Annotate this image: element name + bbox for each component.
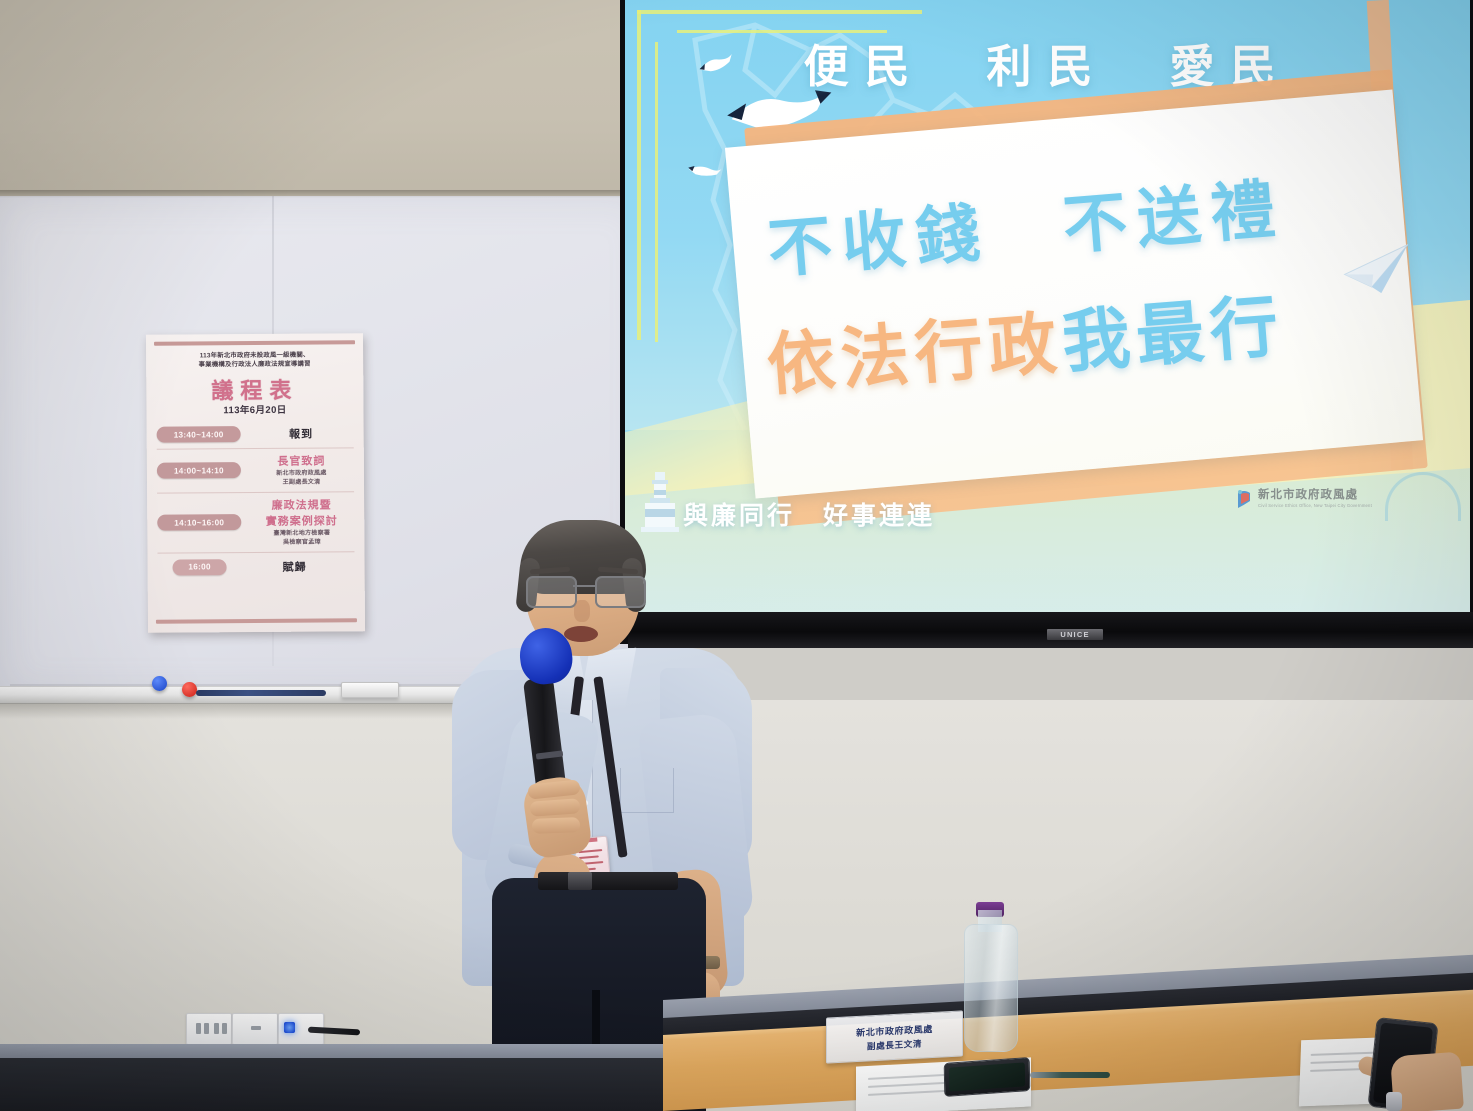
blue-magnet-icon[interactable] bbox=[152, 676, 167, 691]
agenda-sub2: 王副處長文清 bbox=[249, 479, 354, 488]
pen[interactable] bbox=[1030, 1072, 1110, 1078]
agenda-body: 報到 bbox=[241, 425, 354, 442]
agenda-event: 賦歸 bbox=[235, 558, 355, 575]
screenshot-root: 113年新北市政府未設政風一級機關、 事業機構及行政法人廉政法規宣導講習 議程表… bbox=[0, 0, 1473, 1111]
slide-line-2-blue: 我最行 bbox=[1059, 288, 1286, 381]
nose bbox=[574, 600, 590, 622]
agenda-time: 16:00 bbox=[173, 559, 227, 575]
agenda-event: 廉政法規暨 bbox=[249, 496, 354, 513]
agenda-poster[interactable]: 113年新北市政府未設政風一級機關、 事業機構及行政法人廉政法規宣導講習 議程表… bbox=[146, 333, 365, 633]
agenda-row: 14:00~14:10 長官致詞 新北市政府政風處 王副處長文清 bbox=[157, 448, 354, 493]
power-outlet[interactable] bbox=[186, 1013, 232, 1045]
agenda-time: 13:40~14:00 bbox=[157, 426, 241, 443]
gov-logo-cn: 新北市政府政風處 bbox=[1258, 490, 1372, 502]
whiteboard-eraser[interactable] bbox=[341, 682, 399, 698]
gov-logo-en: Civil Service Ethics Office, New Taipei … bbox=[1258, 504, 1372, 508]
glasses-bridge bbox=[573, 585, 595, 587]
poster-heading: 113年新北市政府未設政風一級機關、 事業機構及行政法人廉政法規宣導講習 bbox=[153, 350, 356, 369]
belt-buckle bbox=[568, 872, 592, 890]
agenda-time: 14:00~14:10 bbox=[157, 463, 241, 480]
smartphone-on-table[interactable] bbox=[944, 1057, 1031, 1097]
water-bottle[interactable] bbox=[964, 924, 1018, 1052]
lens-left bbox=[526, 576, 577, 608]
agenda-event: 報到 bbox=[249, 425, 354, 442]
agenda-body: 廉政法規暨 實務案例探討 臺灣新北地方檢察署 吳檢察官孟璋 bbox=[241, 496, 354, 548]
desk-nameplate: 新北市政府政風處 副處長王文清 bbox=[826, 1010, 963, 1063]
agenda-event: 長官致詞 bbox=[249, 452, 354, 469]
whiteboard-marker[interactable] bbox=[196, 690, 326, 696]
lens-right bbox=[595, 576, 646, 608]
agenda-event-line2: 實務案例探討 bbox=[249, 512, 354, 529]
finger bbox=[532, 817, 580, 834]
mouth bbox=[564, 626, 598, 642]
poster-heading-line2: 事業機構及行政法人廉政法規宣導講習 bbox=[153, 359, 356, 369]
agenda-time: 14:10~16:00 bbox=[157, 514, 241, 531]
poster-date: 113年6月20日 bbox=[146, 401, 363, 417]
agenda-body: 長官致詞 新北市政府政風處 王副處長文清 bbox=[241, 452, 354, 488]
nameplate-line2: 副處長王文清 bbox=[867, 1037, 922, 1052]
agenda-sub1: 臺灣新北地方檢察署 bbox=[249, 529, 354, 538]
whiteboard-top-shadow bbox=[0, 190, 720, 198]
agenda-body: 賦歸 bbox=[227, 558, 355, 575]
gov-logo-text: 新北市政府政風處 Civil Service Ethics Office, Ne… bbox=[1258, 490, 1372, 508]
status-led-indicator bbox=[284, 1022, 295, 1033]
gov-logo-mark-icon bbox=[1235, 489, 1253, 509]
red-magnet-icon[interactable] bbox=[182, 682, 197, 697]
floor-left bbox=[0, 1058, 663, 1111]
agenda-row: 16:00 賦歸 bbox=[157, 552, 354, 581]
baseboard-left bbox=[0, 1044, 663, 1058]
government-logo: 新北市政府政風處 Civil Service Ethics Office, Ne… bbox=[1235, 489, 1372, 509]
agenda-row: 13:40~14:00 報到 bbox=[157, 419, 354, 449]
slide-line-2-orange: 依法行政 bbox=[764, 305, 1065, 403]
nameplate-line1: 新北市政府政風處 bbox=[856, 1021, 933, 1038]
agenda-sub2: 吳檢察官孟璋 bbox=[249, 539, 354, 548]
poster-rows: 13:40~14:00 報到 14:00~14:10 長官致詞 新北市政府政風處… bbox=[157, 419, 355, 581]
decor-line bbox=[637, 10, 922, 14]
agenda-row: 14:10~16:00 廉政法規暨 實務案例探討 臺灣新北地方檢察署 吳檢察官孟… bbox=[157, 492, 354, 553]
projector-brand-label: UNICE bbox=[1047, 629, 1103, 640]
agenda-sub1: 新北市政府政風處 bbox=[249, 469, 354, 478]
attendee-wristband bbox=[1386, 1092, 1402, 1111]
phone-screen[interactable] bbox=[949, 1062, 1025, 1091]
shirt-pocket bbox=[620, 768, 674, 813]
belt bbox=[538, 872, 678, 890]
blank-wall-plate bbox=[232, 1013, 278, 1045]
